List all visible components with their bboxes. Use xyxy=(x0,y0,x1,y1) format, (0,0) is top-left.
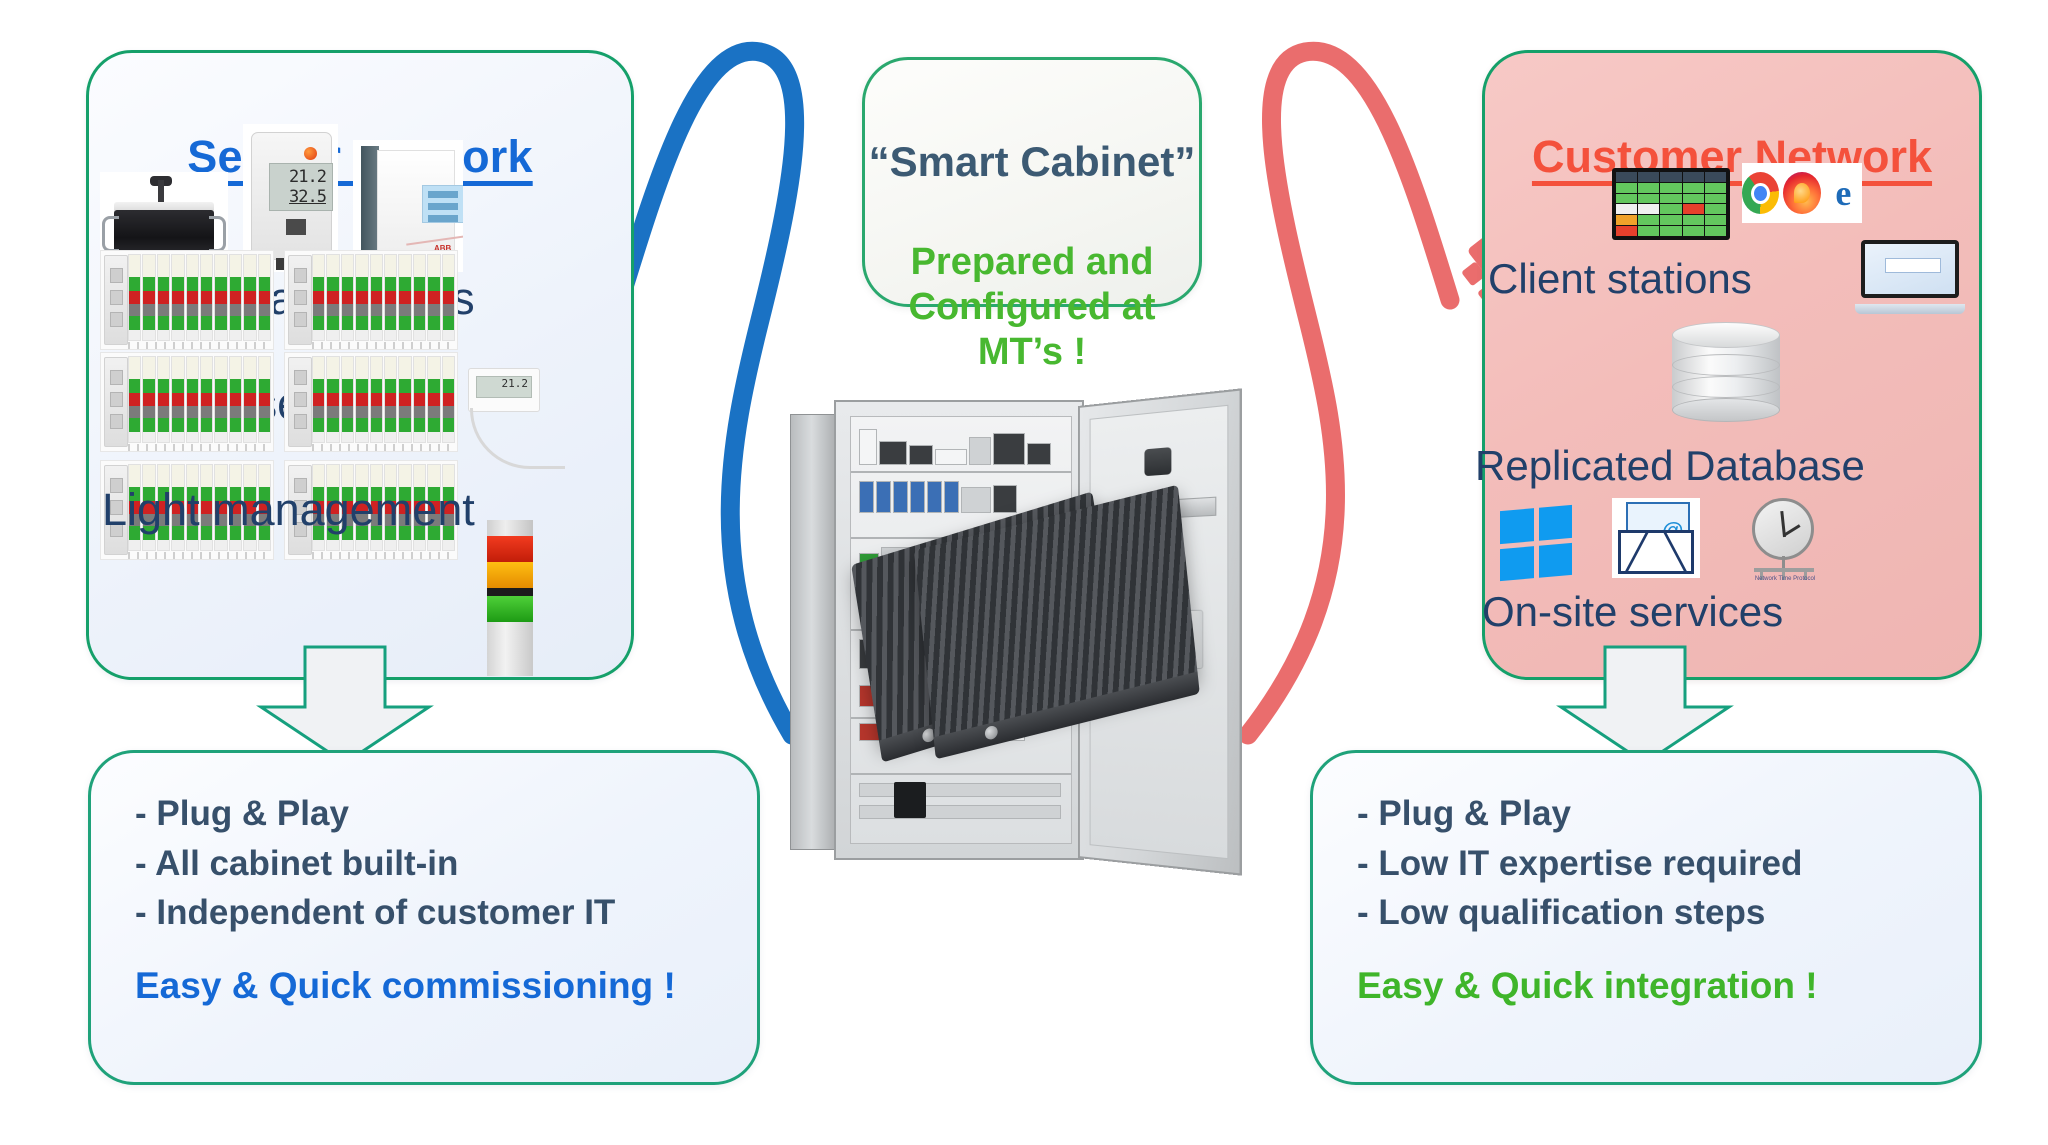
note-right-punchline: Easy & Quick integration ! xyxy=(1357,965,1818,1007)
firefox-icon xyxy=(1783,172,1820,214)
note-right-bullets: - Plug & Play - Low IT expertise require… xyxy=(1357,789,1802,938)
edge-icon: e xyxy=(1825,172,1862,214)
note-left-bullet-3: - Independent of customer IT xyxy=(135,888,615,938)
smart-cabinet-callout: “Smart Cabinet” Prepared and Configured … xyxy=(862,57,1202,307)
electrical-cabinet-image xyxy=(790,400,1240,870)
label-light-management: Light management xyxy=(102,484,475,536)
windows-icon xyxy=(1500,505,1572,581)
note-left-bullet-1: - Plug & Play xyxy=(135,789,615,839)
dashboard-monitor-icon xyxy=(1612,168,1730,240)
customer-network-heading: Customer Network xyxy=(1485,131,1979,183)
browser-icons-group: e xyxy=(1742,163,1862,223)
note-right-bullet-1: - Plug & Play xyxy=(1357,789,1802,839)
plc-terminal-block xyxy=(284,352,458,452)
database-icon xyxy=(1672,322,1780,422)
logger-value-top: 21.2 xyxy=(289,167,326,187)
plc-terminal-block xyxy=(100,352,274,452)
smart-subtitle-line-2: Configured at xyxy=(865,285,1199,330)
diagram-canvas: Sensor Network 21.2 32.5 ABB Numerical s… xyxy=(0,0,2048,1145)
note-right-bullet-3: - Low qualification steps xyxy=(1357,888,1802,938)
logger-value-bottom: 32.5 xyxy=(289,187,326,207)
ntp-clock-caption: Network Time Protocol xyxy=(1750,576,1820,582)
note-box-left: - Plug & Play - All cabinet built-in - I… xyxy=(88,750,760,1085)
down-arrow-right xyxy=(1545,645,1745,765)
email-icon: @ xyxy=(1612,498,1700,578)
note-left-bullet-2: - All cabinet built-in xyxy=(135,839,615,889)
mini-display-value: 21.2 xyxy=(476,376,532,398)
label-client-stations: Client stations xyxy=(1488,255,1752,303)
label-on-site-services: On-site services xyxy=(1482,588,1783,636)
ethernet-cable-blue-path xyxy=(620,51,795,735)
mini-display: 21.2 xyxy=(468,368,540,412)
note-right-bullet-2: - Low IT expertise required xyxy=(1357,839,1802,889)
signal-light-tower xyxy=(487,520,533,660)
note-box-right: - Plug & Play - Low IT expertise require… xyxy=(1310,750,1982,1085)
chrome-icon xyxy=(1742,172,1779,214)
smart-subtitle-line-3: MT’s ! xyxy=(865,330,1199,375)
label-replicated-database: Replicated Database xyxy=(1475,442,1865,490)
note-left-punchline: Easy & Quick commissioning ! xyxy=(135,965,676,1007)
smart-cabinet-title: “Smart Cabinet” xyxy=(865,138,1199,186)
smart-subtitle-line-1: Prepared and xyxy=(865,240,1199,285)
plc-terminal-block xyxy=(284,250,458,350)
ntp-clock-icon: Network Time Protocol xyxy=(1740,498,1828,580)
note-left-bullets: - Plug & Play - All cabinet built-in - I… xyxy=(135,789,615,938)
plc-terminal-block xyxy=(100,250,274,350)
ethernet-cable-red-path xyxy=(1248,51,1450,735)
smart-cabinet-subtitle: Prepared and Configured at MT’s ! xyxy=(865,240,1199,374)
down-arrow-left xyxy=(245,645,445,765)
laptop-icon xyxy=(1855,240,1965,320)
